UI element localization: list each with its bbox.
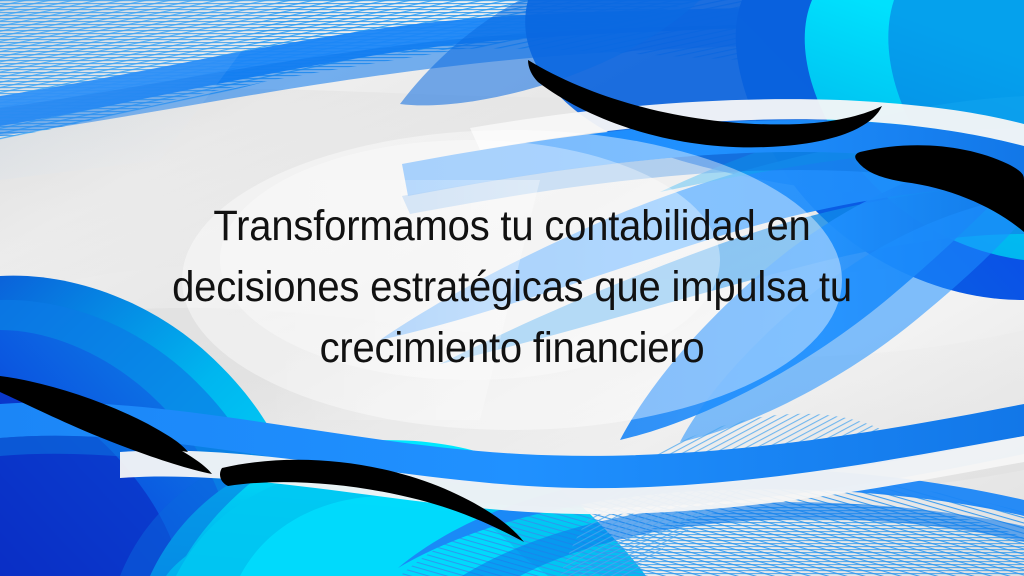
slide-canvas: Transformamos tu contabilidad en decisio…: [0, 0, 1024, 576]
background-decoration: [0, 0, 1024, 576]
